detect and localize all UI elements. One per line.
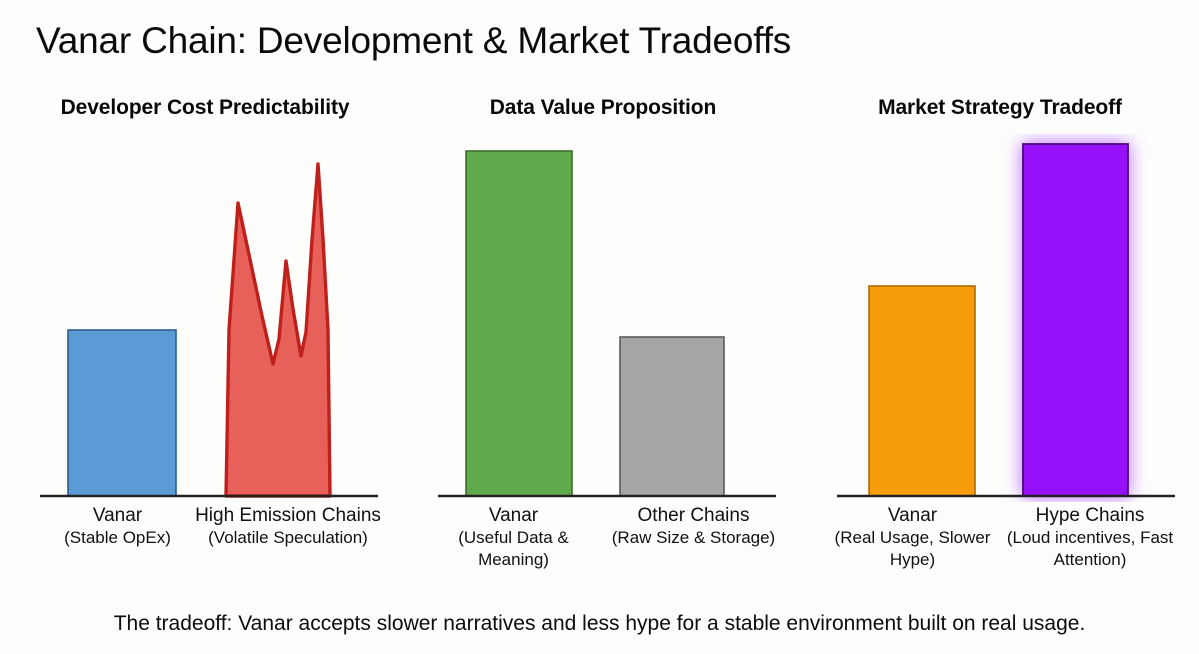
panel-title: Market Strategy Tradeoff: [805, 96, 1195, 120]
category-name: Hype Chains: [1036, 505, 1145, 526]
page-title: Vanar Chain: Development & Market Tradeo…: [36, 20, 791, 62]
category-label-hype-chains: Hype Chains (Loud incentives, Fast Atten…: [995, 504, 1185, 571]
category-name: Vanar: [93, 505, 142, 526]
category-labels: Vanar (Useful Data & Meaning) Other Chai…: [428, 504, 778, 600]
bar-other-chains-grey: [620, 337, 724, 496]
category-sublabel: (Useful Data & Meaning): [426, 527, 601, 571]
panel-data-value-proposition: Data Value Proposition Vanar (Useful Dat…: [408, 96, 798, 586]
category-label-vanar: Vanar (Useful Data & Meaning): [426, 504, 601, 571]
category-sublabel: (Real Usage, Slower Hype): [825, 527, 1000, 571]
category-sublabel: (Loud incentives, Fast Attention): [995, 527, 1185, 571]
category-label-vanar: Vanar (Stable OpEx): [30, 504, 205, 549]
bar-high-emission-volatile: [226, 164, 330, 496]
bar-hype-chains-purple: [1023, 144, 1128, 496]
chart-canvas: Vanar Chain: Development & Market Tradeo…: [0, 0, 1199, 654]
panel-developer-cost-predictability: Developer Cost Predictability Vanar (Sta…: [10, 96, 400, 586]
plot-area-market-strategy: [825, 134, 1175, 502]
category-name: High Emission Chains: [195, 505, 381, 526]
category-labels: Vanar (Stable OpEx) High Emission Chains…: [30, 504, 380, 600]
plot-area-data-value: [428, 134, 778, 502]
plot-area-developer-cost: [30, 134, 380, 502]
category-name: Vanar: [888, 505, 937, 526]
category-sublabel: (Stable OpEx): [30, 527, 205, 549]
category-label-high-emission-chains: High Emission Chains (Volatile Speculati…: [188, 504, 388, 549]
bar-vanar-orange: [869, 286, 975, 496]
category-name: Vanar: [489, 505, 538, 526]
bar-vanar-blue: [68, 330, 176, 496]
tradeoff-caption: The tradeoff: Vanar accepts slower narra…: [0, 612, 1199, 636]
panel-title: Developer Cost Predictability: [10, 96, 400, 120]
category-sublabel: (Raw Size & Storage): [596, 527, 791, 549]
category-name: Other Chains: [638, 505, 750, 526]
bar-vanar-green: [466, 151, 572, 496]
panel-title: Data Value Proposition: [408, 96, 798, 120]
category-label-other-chains: Other Chains (Raw Size & Storage): [596, 504, 791, 549]
category-labels: Vanar (Real Usage, Slower Hype) Hype Cha…: [825, 504, 1175, 600]
category-label-vanar: Vanar (Real Usage, Slower Hype): [825, 504, 1000, 571]
category-sublabel: (Volatile Speculation): [188, 527, 388, 549]
panel-market-strategy-tradeoff: Market Strategy Tradeoff: [805, 96, 1195, 586]
